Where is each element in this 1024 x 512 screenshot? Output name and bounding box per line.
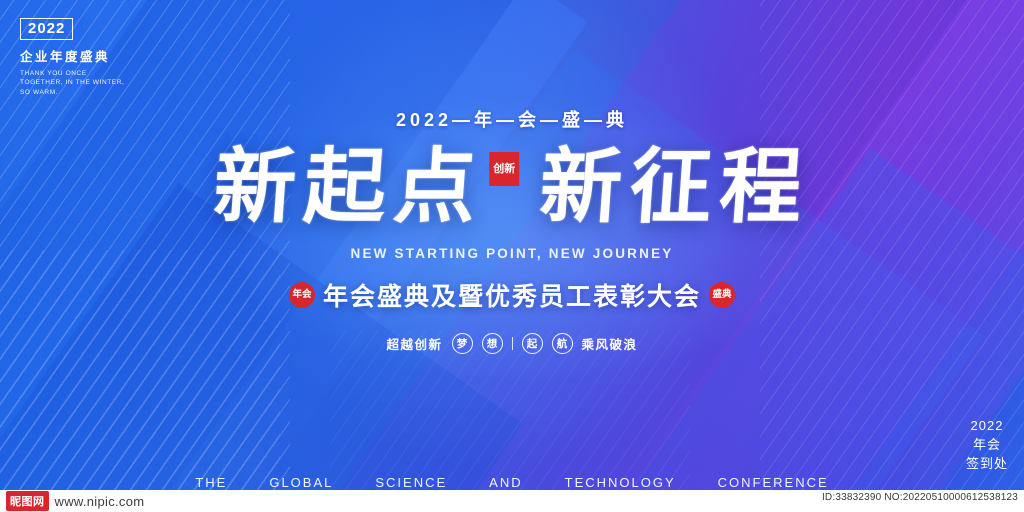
bottom-word: SCIENCE [375, 475, 447, 490]
poster-screenshot: 2022 企业年度盛典 THANK YOU ONCE TOGETHER, IN … [0, 0, 1024, 512]
poster-taglines: 超越创新 梦 想 起 航 乘风破浪 [386, 333, 637, 354]
bottom-word: CONFERENCE [718, 475, 829, 490]
poster-center-content: 2022—年—会—盛—典 新起点新征程 创新 NEW STARTING POIN… [0, 0, 1024, 490]
watermark-url: www.nipic.com [55, 494, 145, 509]
poster-kicker: 2022—年—会—盛—典 [396, 106, 628, 132]
badge-left: 年会 [289, 282, 315, 308]
corner-year: 2022 [966, 417, 1008, 436]
bottom-word: THE [195, 475, 227, 490]
bottom-english-row: THE GLOBAL SCIENCE AND TECHNOLOGY CONFER… [0, 475, 1024, 490]
bottom-word: GLOBAL [269, 475, 333, 490]
poster-headline: 新起点新征程 创新 [211, 146, 813, 228]
corner-event: 年会 [966, 436, 1008, 455]
corner-signin-block: 2022 年会 签到处 [966, 417, 1008, 474]
brand-subtitle-cn: 企业年度盛典 [20, 46, 124, 65]
watermark: 昵图网 www.nipic.com [6, 491, 144, 511]
corner-signin: 签到处 [966, 455, 1008, 474]
watermark-logo: 昵图网 [6, 491, 49, 511]
tagline-left: 超越创新 [386, 334, 442, 353]
tagline-circle-4: 航 [552, 333, 573, 354]
brand-logo: 2022 企业年度盛典 THANK YOU ONCE TOGETHER, IN … [20, 18, 124, 97]
tagline-circle-2: 想 [482, 333, 503, 354]
headline-right: 新征程 [537, 139, 814, 235]
brand-subtitle-en: THANK YOU ONCE TOGETHER, IN THE WINTER, … [20, 69, 124, 97]
poster-subtitle-main: 年会盛典及暨优秀员工表彰大会 [323, 277, 701, 313]
tagline-circle-1: 梦 [452, 333, 473, 354]
badge-right: 盛典 [709, 282, 735, 308]
bottom-word: AND [489, 475, 522, 490]
tagline-right: 乘风破浪 [582, 334, 638, 353]
headline-left: 新起点 [211, 139, 488, 235]
image-id-code: ID:33832390 NO:20220510000612538123 [822, 492, 1018, 503]
brand-year: 2022 [20, 18, 73, 40]
tagline-divider [512, 337, 513, 350]
seal-stamp: 创新 [489, 152, 519, 186]
tagline-circle-3: 起 [522, 333, 543, 354]
poster-english-subtitle: NEW STARTING POINT, NEW JOURNEY [351, 246, 674, 261]
poster-subtitle-row: 年会 年会盛典及暨优秀员工表彰大会 盛典 [289, 277, 735, 313]
bottom-word: TECHNOLOGY [565, 475, 676, 490]
